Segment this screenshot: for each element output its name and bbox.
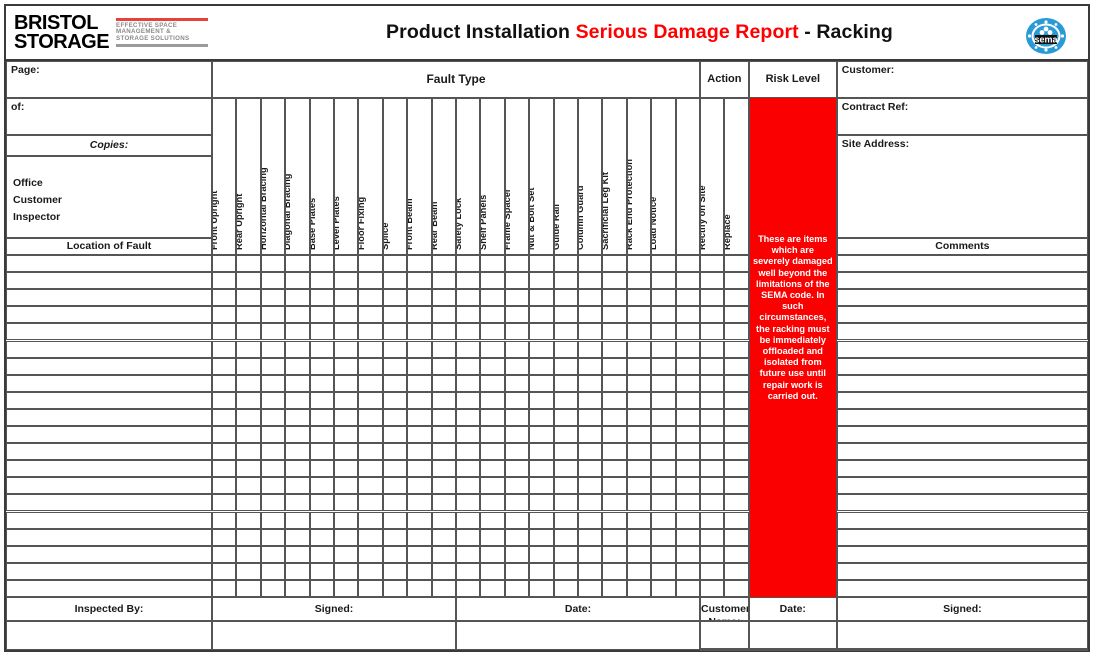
fault-tick-cell[interactable] [212, 460, 236, 477]
fault-tick-cell[interactable] [261, 341, 285, 358]
fault-tick-cell[interactable] [505, 563, 529, 580]
fault-tick-cell[interactable] [432, 512, 456, 529]
fault-tick-cell[interactable] [358, 375, 382, 392]
fault-tick-cell[interactable] [480, 529, 504, 546]
fault-tick-cell[interactable] [627, 460, 651, 477]
fault-tick-cell[interactable] [261, 529, 285, 546]
fault-tick-cell[interactable] [480, 477, 504, 494]
fault-tick-cell[interactable] [554, 563, 578, 580]
fault-tick-cell[interactable] [383, 358, 407, 375]
fault-tick-cell[interactable] [407, 409, 431, 426]
fault-tick-cell[interactable] [651, 580, 675, 597]
fault-tick-cell[interactable] [358, 255, 382, 272]
fault-tick-cell[interactable] [505, 272, 529, 289]
fault-tick-cell[interactable] [236, 546, 260, 563]
comments-cell[interactable] [837, 358, 1088, 375]
fault-location-cell[interactable] [6, 375, 212, 392]
fault-tick-cell[interactable] [334, 289, 358, 306]
fault-tick-cell[interactable] [212, 341, 236, 358]
fault-tick-cell[interactable] [432, 272, 456, 289]
fault-tick-cell[interactable] [310, 409, 334, 426]
fault-tick-cell[interactable] [310, 375, 334, 392]
fault-tick-cell[interactable] [261, 477, 285, 494]
fault-tick-cell[interactable] [529, 426, 553, 443]
fault-tick-cell[interactable] [407, 272, 431, 289]
fault-tick-cell[interactable] [432, 580, 456, 597]
fault-tick-cell[interactable] [456, 272, 480, 289]
fault-tick-cell[interactable] [432, 494, 456, 511]
action-tick-cell[interactable] [724, 443, 748, 460]
fault-tick-cell[interactable] [261, 546, 285, 563]
fault-tick-cell[interactable] [651, 306, 675, 323]
fault-tick-cell[interactable] [212, 529, 236, 546]
fault-location-cell[interactable] [6, 255, 212, 272]
fault-tick-cell[interactable] [432, 392, 456, 409]
fault-tick-cell[interactable] [310, 512, 334, 529]
fault-tick-cell[interactable] [676, 477, 700, 494]
fault-tick-cell[interactable] [554, 426, 578, 443]
action-tick-cell[interactable] [724, 323, 748, 340]
fault-tick-cell[interactable] [627, 323, 651, 340]
action-tick-cell[interactable] [700, 392, 724, 409]
fault-tick-cell[interactable] [651, 512, 675, 529]
fault-tick-cell[interactable] [602, 409, 626, 426]
fault-tick-cell[interactable] [480, 289, 504, 306]
fault-tick-cell[interactable] [602, 341, 626, 358]
fault-tick-cell[interactable] [529, 563, 553, 580]
fault-tick-cell[interactable] [285, 512, 309, 529]
fault-tick-cell[interactable] [383, 477, 407, 494]
customer-field[interactable]: Customer: [837, 61, 1088, 98]
fault-tick-cell[interactable] [602, 460, 626, 477]
fault-tick-cell[interactable] [529, 289, 553, 306]
fault-tick-cell[interactable] [627, 392, 651, 409]
fault-tick-cell[interactable] [651, 341, 675, 358]
action-tick-cell[interactable] [724, 546, 748, 563]
fault-tick-cell[interactable] [676, 341, 700, 358]
fault-tick-cell[interactable] [554, 392, 578, 409]
fault-tick-cell[interactable] [285, 255, 309, 272]
fault-tick-cell[interactable] [456, 426, 480, 443]
fault-tick-cell[interactable] [383, 546, 407, 563]
comments-cell[interactable] [837, 494, 1088, 511]
fault-tick-cell[interactable] [358, 272, 382, 289]
fault-tick-cell[interactable] [407, 477, 431, 494]
fault-tick-cell[interactable] [554, 460, 578, 477]
fault-tick-cell[interactable] [407, 306, 431, 323]
fault-tick-cell[interactable] [554, 306, 578, 323]
fault-tick-cell[interactable] [602, 512, 626, 529]
fault-tick-cell[interactable] [261, 392, 285, 409]
fault-tick-cell[interactable] [236, 477, 260, 494]
fault-tick-cell[interactable] [651, 460, 675, 477]
date-left-field[interactable] [456, 621, 700, 650]
fault-tick-cell[interactable] [651, 358, 675, 375]
fault-tick-cell[interactable] [676, 358, 700, 375]
fault-tick-cell[interactable] [310, 289, 334, 306]
fault-tick-cell[interactable] [383, 289, 407, 306]
fault-tick-cell[interactable] [236, 392, 260, 409]
fault-tick-cell[interactable] [456, 323, 480, 340]
fault-location-cell[interactable] [6, 563, 212, 580]
fault-tick-cell[interactable] [285, 460, 309, 477]
action-tick-cell[interactable] [724, 375, 748, 392]
fault-tick-cell[interactable] [456, 392, 480, 409]
fault-tick-cell[interactable] [529, 529, 553, 546]
fault-tick-cell[interactable] [480, 272, 504, 289]
fault-tick-cell[interactable] [505, 323, 529, 340]
fault-tick-cell[interactable] [554, 289, 578, 306]
fault-tick-cell[interactable] [627, 358, 651, 375]
fault-tick-cell[interactable] [480, 358, 504, 375]
fault-tick-cell[interactable] [602, 529, 626, 546]
action-tick-cell[interactable] [700, 512, 724, 529]
fault-tick-cell[interactable] [602, 289, 626, 306]
fault-tick-cell[interactable] [407, 563, 431, 580]
fault-tick-cell[interactable] [602, 323, 626, 340]
fault-tick-cell[interactable] [627, 529, 651, 546]
fault-tick-cell[interactable] [505, 426, 529, 443]
fault-tick-cell[interactable] [236, 529, 260, 546]
fault-tick-cell[interactable] [676, 375, 700, 392]
comments-cell[interactable] [837, 341, 1088, 358]
fault-location-cell[interactable] [6, 289, 212, 306]
fault-tick-cell[interactable] [261, 358, 285, 375]
fault-tick-cell[interactable] [456, 563, 480, 580]
fault-tick-cell[interactable] [310, 546, 334, 563]
action-tick-cell[interactable] [700, 529, 724, 546]
fault-tick-cell[interactable] [505, 580, 529, 597]
action-tick-cell[interactable] [700, 443, 724, 460]
fault-tick-cell[interactable] [529, 512, 553, 529]
fault-tick-cell[interactable] [383, 255, 407, 272]
fault-tick-cell[interactable] [578, 323, 602, 340]
action-tick-cell[interactable] [724, 426, 748, 443]
fault-tick-cell[interactable] [383, 272, 407, 289]
fault-tick-cell[interactable] [383, 460, 407, 477]
comments-cell[interactable] [837, 375, 1088, 392]
fault-tick-cell[interactable] [456, 443, 480, 460]
fault-tick-cell[interactable] [627, 580, 651, 597]
fault-tick-cell[interactable] [334, 341, 358, 358]
fault-tick-cell[interactable] [602, 546, 626, 563]
fault-tick-cell[interactable] [261, 255, 285, 272]
fault-tick-cell[interactable] [676, 546, 700, 563]
fault-tick-cell[interactable] [456, 477, 480, 494]
fault-tick-cell[interactable] [334, 358, 358, 375]
action-tick-cell[interactable] [724, 392, 748, 409]
fault-tick-cell[interactable] [407, 426, 431, 443]
fault-tick-cell[interactable] [529, 255, 553, 272]
comments-cell[interactable] [837, 512, 1088, 529]
fault-tick-cell[interactable] [432, 443, 456, 460]
fault-tick-cell[interactable] [261, 375, 285, 392]
fault-tick-cell[interactable] [627, 546, 651, 563]
fault-location-cell[interactable] [6, 512, 212, 529]
fault-location-cell[interactable] [6, 409, 212, 426]
fault-tick-cell[interactable] [529, 494, 553, 511]
inspected-by-field[interactable] [6, 621, 212, 650]
fault-tick-cell[interactable] [310, 272, 334, 289]
fault-tick-cell[interactable] [334, 546, 358, 563]
fault-tick-cell[interactable] [358, 306, 382, 323]
fault-tick-cell[interactable] [480, 392, 504, 409]
fault-tick-cell[interactable] [578, 460, 602, 477]
fault-tick-cell[interactable] [432, 289, 456, 306]
fault-tick-cell[interactable] [578, 512, 602, 529]
action-tick-cell[interactable] [724, 341, 748, 358]
action-tick-cell[interactable] [724, 580, 748, 597]
fault-tick-cell[interactable] [676, 529, 700, 546]
fault-tick-cell[interactable] [480, 460, 504, 477]
fault-tick-cell[interactable] [505, 375, 529, 392]
fault-tick-cell[interactable] [456, 358, 480, 375]
comments-cell[interactable] [837, 272, 1088, 289]
fault-tick-cell[interactable] [627, 289, 651, 306]
fault-tick-cell[interactable] [383, 392, 407, 409]
fault-tick-cell[interactable] [676, 272, 700, 289]
fault-tick-cell[interactable] [554, 443, 578, 460]
fault-tick-cell[interactable] [334, 580, 358, 597]
action-tick-cell[interactable] [700, 563, 724, 580]
fault-tick-cell[interactable] [358, 529, 382, 546]
fault-tick-cell[interactable] [261, 580, 285, 597]
fault-tick-cell[interactable] [676, 426, 700, 443]
fault-tick-cell[interactable] [529, 477, 553, 494]
fault-tick-cell[interactable] [407, 580, 431, 597]
fault-tick-cell[interactable] [505, 494, 529, 511]
fault-tick-cell[interactable] [676, 392, 700, 409]
fault-tick-cell[interactable] [432, 255, 456, 272]
fault-tick-cell[interactable] [529, 358, 553, 375]
fault-tick-cell[interactable] [261, 409, 285, 426]
fault-tick-cell[interactable] [627, 306, 651, 323]
fault-tick-cell[interactable] [407, 529, 431, 546]
fault-tick-cell[interactable] [334, 409, 358, 426]
fault-tick-cell[interactable] [529, 580, 553, 597]
fault-tick-cell[interactable] [285, 494, 309, 511]
action-tick-cell[interactable] [700, 580, 724, 597]
fault-tick-cell[interactable] [236, 426, 260, 443]
signed-left-field[interactable] [212, 621, 456, 650]
fault-tick-cell[interactable] [212, 272, 236, 289]
action-tick-cell[interactable] [724, 255, 748, 272]
fault-tick-cell[interactable] [407, 289, 431, 306]
fault-tick-cell[interactable] [627, 426, 651, 443]
fault-tick-cell[interactable] [529, 272, 553, 289]
action-tick-cell[interactable] [700, 409, 724, 426]
action-tick-cell[interactable] [700, 477, 724, 494]
fault-tick-cell[interactable] [285, 375, 309, 392]
fault-tick-cell[interactable] [627, 512, 651, 529]
fault-tick-cell[interactable] [236, 443, 260, 460]
fault-tick-cell[interactable] [236, 580, 260, 597]
fault-location-cell[interactable] [6, 443, 212, 460]
fault-tick-cell[interactable] [627, 443, 651, 460]
fault-tick-cell[interactable] [627, 477, 651, 494]
fault-tick-cell[interactable] [578, 392, 602, 409]
fault-tick-cell[interactable] [285, 289, 309, 306]
fault-tick-cell[interactable] [285, 529, 309, 546]
fault-tick-cell[interactable] [407, 375, 431, 392]
action-tick-cell[interactable] [700, 272, 724, 289]
fault-tick-cell[interactable] [554, 512, 578, 529]
fault-tick-cell[interactable] [310, 306, 334, 323]
fault-tick-cell[interactable] [505, 477, 529, 494]
fault-tick-cell[interactable] [554, 323, 578, 340]
fault-tick-cell[interactable] [505, 358, 529, 375]
fault-tick-cell[interactable] [578, 375, 602, 392]
fault-tick-cell[interactable] [334, 512, 358, 529]
fault-location-cell[interactable] [6, 580, 212, 597]
fault-tick-cell[interactable] [285, 358, 309, 375]
fault-tick-cell[interactable] [407, 443, 431, 460]
fault-tick-cell[interactable] [261, 323, 285, 340]
fault-tick-cell[interactable] [358, 580, 382, 597]
action-tick-cell[interactable] [724, 529, 748, 546]
fault-tick-cell[interactable] [578, 272, 602, 289]
fault-tick-cell[interactable] [480, 255, 504, 272]
fault-tick-cell[interactable] [651, 323, 675, 340]
comments-cell[interactable] [837, 546, 1088, 563]
fault-tick-cell[interactable] [358, 512, 382, 529]
comments-cell[interactable] [837, 477, 1088, 494]
fault-tick-cell[interactable] [358, 443, 382, 460]
fault-location-cell[interactable] [6, 272, 212, 289]
fault-location-cell[interactable] [6, 460, 212, 477]
fault-tick-cell[interactable] [432, 409, 456, 426]
fault-tick-cell[interactable] [456, 409, 480, 426]
fault-tick-cell[interactable] [407, 323, 431, 340]
page-of-field[interactable]: of: [6, 98, 212, 135]
fault-tick-cell[interactable] [383, 341, 407, 358]
fault-tick-cell[interactable] [554, 272, 578, 289]
fault-tick-cell[interactable] [554, 358, 578, 375]
action-tick-cell[interactable] [700, 375, 724, 392]
fault-tick-cell[interactable] [334, 426, 358, 443]
fault-tick-cell[interactable] [676, 409, 700, 426]
action-tick-cell[interactable] [724, 272, 748, 289]
fault-tick-cell[interactable] [383, 443, 407, 460]
fault-tick-cell[interactable] [554, 546, 578, 563]
fault-tick-cell[interactable] [456, 306, 480, 323]
fault-tick-cell[interactable] [676, 460, 700, 477]
fault-tick-cell[interactable] [456, 289, 480, 306]
fault-tick-cell[interactable] [602, 272, 626, 289]
fault-tick-cell[interactable] [578, 580, 602, 597]
fault-tick-cell[interactable] [651, 546, 675, 563]
fault-tick-cell[interactable] [651, 529, 675, 546]
action-tick-cell[interactable] [700, 426, 724, 443]
fault-tick-cell[interactable] [310, 494, 334, 511]
fault-tick-cell[interactable] [334, 375, 358, 392]
fault-tick-cell[interactable] [236, 460, 260, 477]
fault-tick-cell[interactable] [529, 443, 553, 460]
fault-tick-cell[interactable] [676, 512, 700, 529]
fault-tick-cell[interactable] [651, 255, 675, 272]
fault-tick-cell[interactable] [554, 341, 578, 358]
fault-tick-cell[interactable] [212, 477, 236, 494]
fault-tick-cell[interactable] [261, 306, 285, 323]
fault-tick-cell[interactable] [212, 409, 236, 426]
fault-tick-cell[interactable] [480, 409, 504, 426]
fault-location-cell[interactable] [6, 392, 212, 409]
fault-tick-cell[interactable] [310, 563, 334, 580]
fault-tick-cell[interactable] [212, 375, 236, 392]
fault-tick-cell[interactable] [261, 460, 285, 477]
fault-tick-cell[interactable] [627, 375, 651, 392]
fault-tick-cell[interactable] [505, 289, 529, 306]
action-tick-cell[interactable] [724, 460, 748, 477]
fault-tick-cell[interactable] [383, 529, 407, 546]
fault-tick-cell[interactable] [554, 494, 578, 511]
action-tick-cell[interactable] [700, 255, 724, 272]
comments-cell[interactable] [837, 409, 1088, 426]
fault-tick-cell[interactable] [505, 512, 529, 529]
fault-tick-cell[interactable] [505, 546, 529, 563]
action-tick-cell[interactable] [724, 306, 748, 323]
fault-tick-cell[interactable] [407, 546, 431, 563]
fault-tick-cell[interactable] [334, 306, 358, 323]
fault-tick-cell[interactable] [578, 426, 602, 443]
fault-tick-cell[interactable] [627, 272, 651, 289]
date-right-field[interactable] [749, 621, 837, 649]
fault-tick-cell[interactable] [334, 460, 358, 477]
fault-tick-cell[interactable] [285, 563, 309, 580]
fault-location-cell[interactable] [6, 477, 212, 494]
fault-tick-cell[interactable] [529, 409, 553, 426]
fault-tick-cell[interactable] [456, 255, 480, 272]
fault-tick-cell[interactable] [602, 563, 626, 580]
fault-tick-cell[interactable] [236, 272, 260, 289]
fault-tick-cell[interactable] [334, 272, 358, 289]
signed-right-field[interactable] [837, 621, 1088, 649]
fault-tick-cell[interactable] [261, 443, 285, 460]
fault-tick-cell[interactable] [432, 375, 456, 392]
fault-tick-cell[interactable] [651, 272, 675, 289]
fault-tick-cell[interactable] [676, 306, 700, 323]
fault-tick-cell[interactable] [236, 563, 260, 580]
fault-tick-cell[interactable] [578, 409, 602, 426]
fault-tick-cell[interactable] [383, 323, 407, 340]
fault-tick-cell[interactable] [285, 306, 309, 323]
fault-tick-cell[interactable] [334, 392, 358, 409]
fault-tick-cell[interactable] [602, 375, 626, 392]
fault-tick-cell[interactable] [236, 323, 260, 340]
fault-tick-cell[interactable] [310, 341, 334, 358]
fault-tick-cell[interactable] [236, 375, 260, 392]
fault-tick-cell[interactable] [358, 358, 382, 375]
fault-tick-cell[interactable] [480, 512, 504, 529]
fault-tick-cell[interactable] [285, 477, 309, 494]
fault-tick-cell[interactable] [334, 255, 358, 272]
fault-tick-cell[interactable] [651, 392, 675, 409]
fault-location-cell[interactable] [6, 323, 212, 340]
fault-tick-cell[interactable] [651, 426, 675, 443]
fault-location-cell[interactable] [6, 358, 212, 375]
fault-tick-cell[interactable] [334, 477, 358, 494]
fault-tick-cell[interactable] [236, 289, 260, 306]
fault-tick-cell[interactable] [407, 341, 431, 358]
fault-tick-cell[interactable] [651, 494, 675, 511]
fault-tick-cell[interactable] [480, 426, 504, 443]
fault-tick-cell[interactable] [236, 306, 260, 323]
fault-location-cell[interactable] [6, 306, 212, 323]
fault-tick-cell[interactable] [407, 358, 431, 375]
fault-tick-cell[interactable] [310, 323, 334, 340]
action-tick-cell[interactable] [700, 494, 724, 511]
fault-tick-cell[interactable] [554, 529, 578, 546]
